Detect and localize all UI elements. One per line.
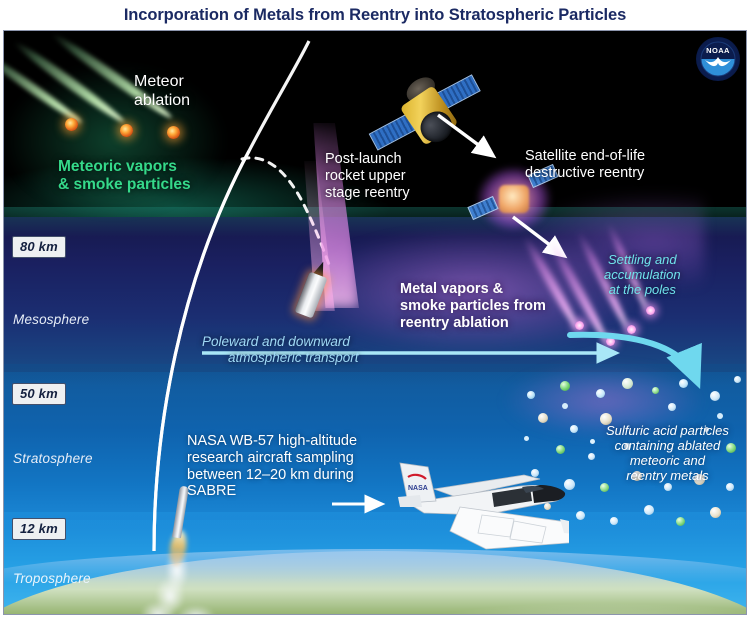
svg-text:NASA: NASA	[408, 485, 428, 492]
callout-poleward-transport: Poleward and downward atmospheric transp…	[202, 334, 359, 365]
callout-line: Meteoric vapors	[58, 158, 191, 176]
callout-line: accumulation	[604, 267, 681, 282]
noaa-logo-icon: NOAA	[696, 37, 740, 81]
callout-sulfuric-acid-particles: Sulfuric acid particles containing ablat…	[606, 423, 729, 483]
callout-line: reentry metals	[606, 468, 729, 483]
title-bar: Incorporation of Metals from Reentry int…	[0, 0, 750, 30]
callout-wb57-sampling: NASA WB-57 high-altitude research aircra…	[187, 433, 357, 500]
callout-line: atmospheric transport	[202, 350, 359, 366]
callout-line: smoke particles from	[400, 298, 546, 315]
figure-page: Incorporation of Metals from Reentry int…	[0, 0, 750, 618]
altitude-tag-80km: 80 km	[12, 236, 66, 258]
callout-line: Satellite end-of-life	[525, 148, 645, 165]
callout-settling-accumulation: Settling and accumulation at the poles	[604, 252, 681, 297]
wb57-aircraft: NASA	[364, 445, 569, 555]
altitude-tag-12km: 12 km	[12, 518, 66, 540]
callout-meteor-ablation: Meteor ablation	[134, 73, 190, 110]
altitude-tag-50km: 50 km	[12, 383, 66, 405]
breakup-core	[499, 185, 529, 213]
callout-line: NASA WB-57 high-altitude	[187, 433, 357, 450]
callout-line: rocket upper	[325, 168, 410, 185]
rocket-launch	[122, 486, 242, 614]
callout-line: reentry ablation	[400, 315, 546, 332]
callout-line: & smoke particles	[58, 176, 191, 194]
callout-post-launch-reentry: Post-launch rocket upper stage reentry	[325, 151, 410, 201]
layer-label-troposphere: Troposphere	[13, 571, 91, 586]
callout-line: Meteor	[134, 73, 190, 92]
callout-line: meteoric and	[606, 453, 729, 468]
callout-meteoric-vapors: Meteoric vapors & smoke particles	[58, 158, 191, 194]
infographic-canvas: NASA 80 km 50 km 12 km	[4, 31, 746, 614]
layer-label-stratosphere: Stratosphere	[13, 451, 93, 466]
callout-line: ablation	[134, 92, 190, 111]
launch-exhaust-plume	[132, 552, 242, 614]
callout-line: Poleward and downward	[202, 334, 359, 350]
callout-metal-vapors: Metal vapors & smoke particles from reen…	[400, 281, 546, 331]
page-title: Incorporation of Metals from Reentry int…	[124, 6, 626, 25]
callout-satellite-end-of-life: Satellite end-of-life destructive reentr…	[525, 148, 645, 182]
callout-line: stage reentry	[325, 185, 410, 202]
callout-line: destructive reentry	[525, 165, 645, 182]
callout-line: SABRE	[187, 483, 357, 500]
callout-line: between 12–20 km during	[187, 467, 357, 484]
infographic-figure: NASA 80 km 50 km 12 km	[3, 30, 747, 615]
callout-line: Metal vapors &	[400, 281, 546, 298]
callout-line: Sulfuric acid particles	[606, 423, 729, 438]
callout-line: containing ablated	[606, 438, 729, 453]
layer-label-mesosphere: Mesosphere	[13, 312, 89, 327]
callout-line: research aircraft sampling	[187, 450, 357, 467]
callout-line: Settling and	[604, 252, 681, 267]
callout-line: Post-launch	[325, 151, 410, 168]
noaa-logo: NOAA	[696, 37, 740, 81]
svg-text:NOAA: NOAA	[706, 46, 730, 55]
callout-line: at the poles	[604, 282, 681, 297]
